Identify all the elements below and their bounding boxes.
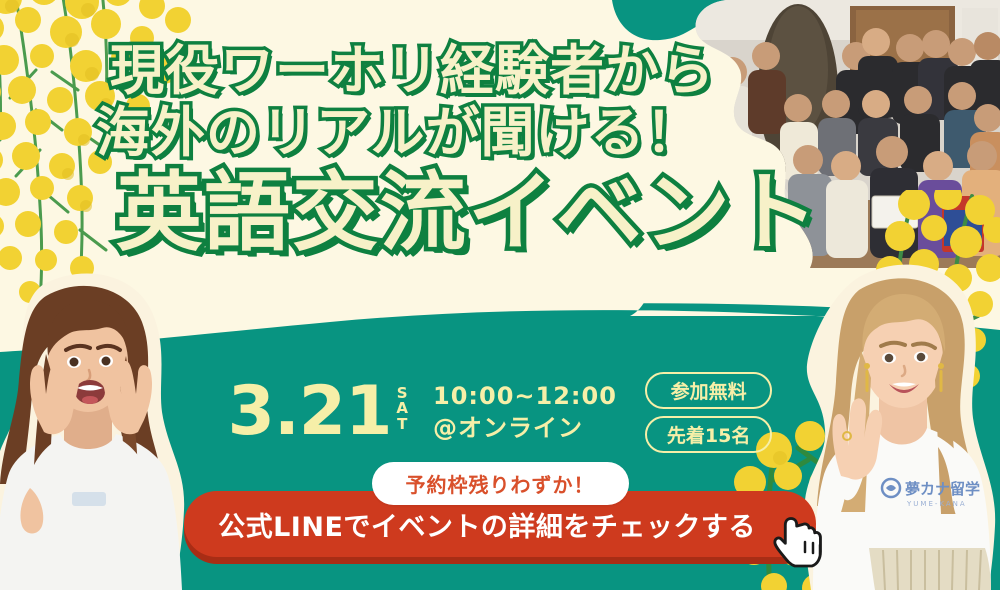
cta-section: 予約枠残りわずか！ 公式LINEでイベントの詳細をチェックする	[0, 462, 1000, 557]
event-banner: 現役ワーホリ経験者から 海外のリアルが聞ける！ 英語交流イベント	[0, 0, 1000, 590]
group-photo	[670, 0, 1000, 268]
cta-notice-badge: 予約枠残りわずか！	[372, 462, 629, 505]
event-date: 3.21	[228, 380, 392, 445]
pointing-hand-icon	[768, 511, 832, 575]
event-date-block: 3.21 S A T	[228, 380, 409, 445]
event-badges: 参加無料 先着15名	[645, 372, 772, 453]
badge-capacity: 先着15名	[645, 416, 772, 453]
badge-free-entry: 参加無料	[645, 372, 772, 409]
event-time-block: 10:00~12:00 @オンライン	[433, 382, 617, 443]
dow-letter-t: T	[397, 417, 408, 433]
event-location: @オンライン	[433, 414, 617, 443]
event-day-of-week: S A T	[396, 386, 409, 433]
cta-button-label: 公式LINEでイベントの詳細をチェックする	[218, 505, 782, 544]
event-time: 10:00~12:00	[433, 382, 617, 411]
